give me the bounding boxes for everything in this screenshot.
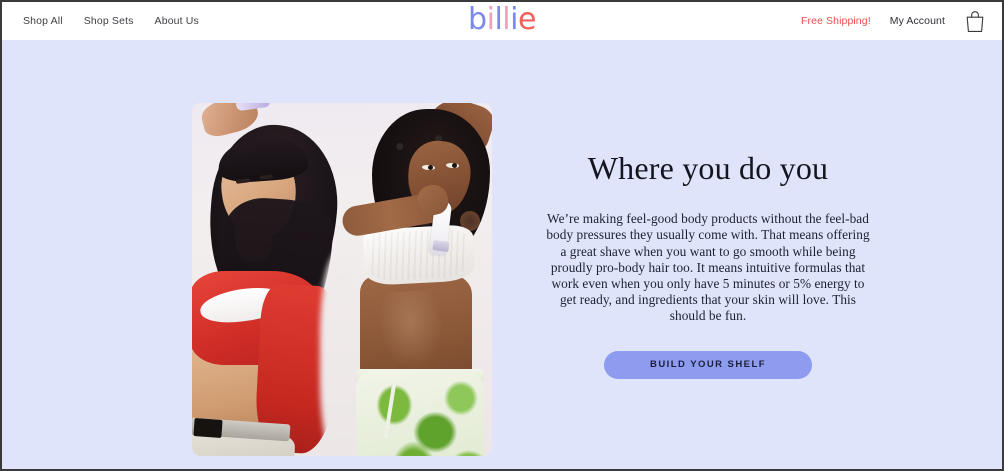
- nav-about-us[interactable]: About Us: [155, 16, 199, 27]
- photo-right-model-pupil-left: [428, 165, 433, 170]
- nav-shop-sets[interactable]: Shop Sets: [84, 16, 134, 27]
- primary-navigation: Shop All Shop Sets About Us: [2, 16, 199, 27]
- hero-photo: [192, 103, 492, 456]
- photo-right-model-pupil-right: [452, 163, 457, 168]
- photo-right-model-crop-top-ribbing: [367, 228, 469, 281]
- my-account-link[interactable]: My Account: [890, 16, 945, 27]
- logo-letter-e: e: [518, 5, 536, 35]
- logo-letter-i1: i: [487, 5, 495, 35]
- site-header: Shop All Shop Sets About Us billie Free …: [2, 2, 1002, 40]
- page-title: Where you do you: [508, 40, 908, 186]
- shopping-bag-icon[interactable]: [964, 9, 986, 33]
- logo-letter-l2: l: [502, 5, 510, 35]
- build-your-shelf-button[interactable]: BUILD YOUR SHELF: [604, 351, 812, 379]
- billie-logo[interactable]: billie: [468, 5, 536, 35]
- photo-left-model-belt-buckle: [193, 418, 222, 438]
- free-shipping-link[interactable]: Free Shipping!: [801, 16, 871, 27]
- photo-right-model-razor-head: [432, 240, 449, 252]
- browser-viewport: Shop All Shop Sets About Us billie Free …: [0, 0, 1004, 471]
- logo-letter-l1: l: [494, 5, 502, 35]
- hero-body-text: We’re making feel-good body products wit…: [543, 186, 873, 324]
- logo-letter-b: b: [468, 5, 487, 35]
- nav-shop-all[interactable]: Shop All: [23, 16, 63, 27]
- hero-copy-column: Where you do you We’re making feel-good …: [508, 40, 908, 379]
- utility-navigation: Free Shipping! My Account: [801, 9, 1002, 33]
- photo-right-model-midriff: [375, 289, 446, 373]
- hero-section: Where you do you We’re making feel-good …: [2, 40, 1002, 469]
- photo-right-model-tiedye-shorts: [356, 371, 484, 456]
- logo-letter-i2: i: [510, 5, 518, 35]
